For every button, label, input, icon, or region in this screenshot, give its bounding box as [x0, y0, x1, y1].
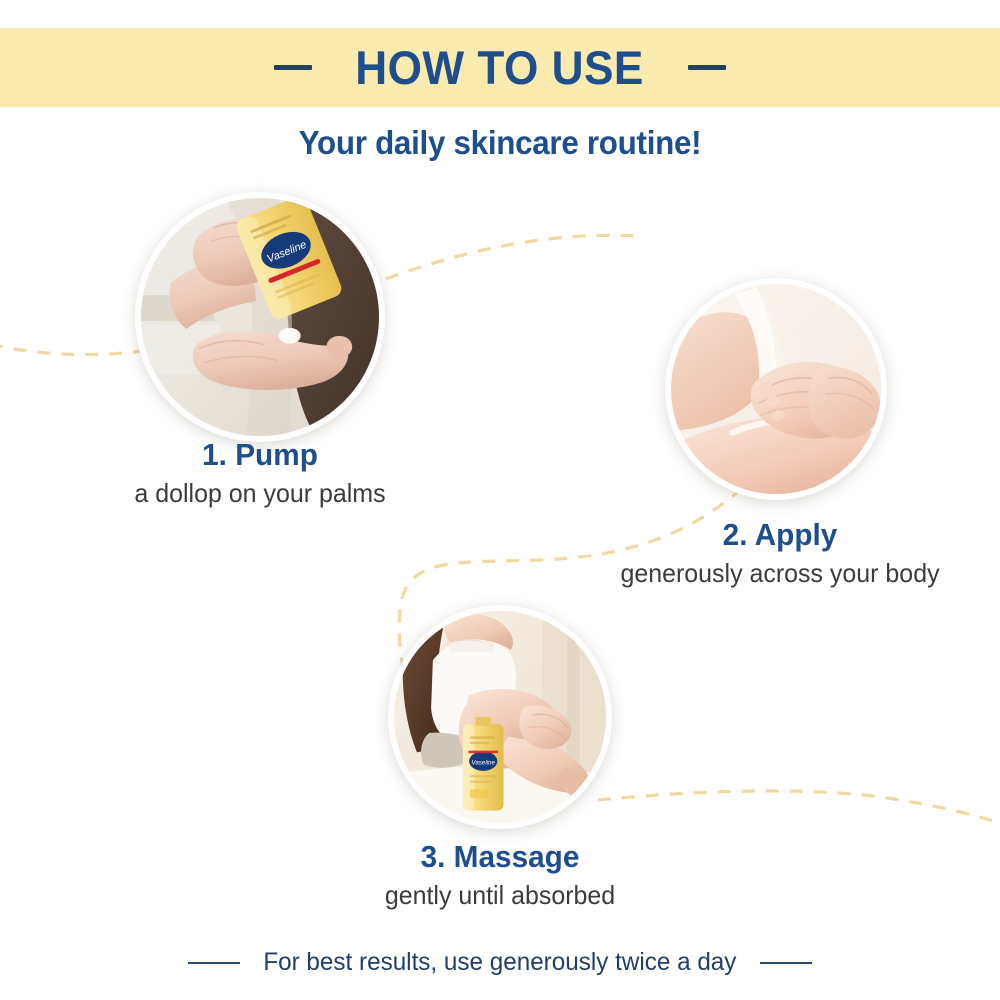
step-2-title: 2. Apply [569, 518, 991, 552]
step-2-photo [671, 284, 881, 494]
footer-rule-left-icon [188, 962, 240, 964]
step-2-description: generously across your body [569, 557, 991, 590]
step-1-title: 1. Pump [68, 438, 452, 472]
header-banner: HOW TO USE [0, 28, 1000, 107]
step-3-caption: 3. Massage gently until absorbed [300, 840, 700, 912]
page-title: HOW TO USE [356, 44, 645, 91]
step-3-photo: Vaseline [394, 611, 606, 823]
step-3-title: 3. Massage [308, 840, 692, 874]
step-3-description: gently until absorbed [308, 879, 692, 912]
infographic-page: HOW TO USE Your daily skincare routine! [0, 0, 1000, 1000]
footer-rule-right-icon [760, 962, 812, 964]
step-1-caption: 1. Pump a dollop on your palms [60, 438, 460, 510]
step-1-image-circle: Vaseline [135, 192, 385, 442]
step-1-photo: Vaseline [141, 198, 379, 436]
step-3-image-circle: Vaseline [388, 605, 612, 829]
step-2-image-circle [665, 278, 887, 500]
step-2-caption: 2. Apply generously across your body [560, 518, 1000, 590]
step-1-description: a dollop on your palms [68, 477, 452, 510]
title-dash-left-icon [274, 65, 312, 70]
page-subtitle: Your daily skincare routine! [25, 124, 975, 162]
footer-text: For best results, use generously twice a… [263, 948, 736, 977]
title-dash-right-icon [688, 65, 726, 70]
footer-note: For best results, use generously twice a… [0, 948, 1000, 977]
svg-text:Vaseline: Vaseline [471, 760, 495, 767]
